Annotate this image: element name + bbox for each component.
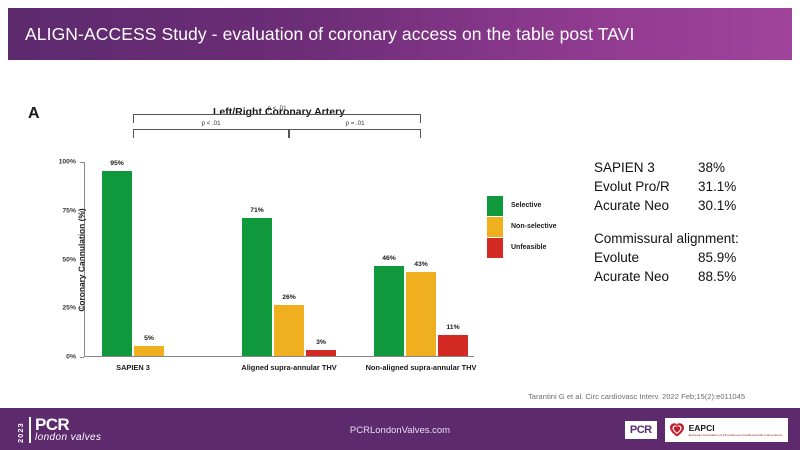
citation-text: Tarantini G et al. Circ cardiovasc Inter… xyxy=(528,392,745,401)
y-tick-label: 25% xyxy=(44,305,76,312)
logo-brand-sub: london valves xyxy=(35,432,101,443)
chart-legend: SelectiveNon-selectiveUnfeasible xyxy=(487,195,582,258)
stats-rows: SAPIEN 338%Evolut Pro/R31.1%Acurate Neo3… xyxy=(594,158,794,215)
bar-value-label: 5% xyxy=(144,335,154,342)
bar-value-label: 11% xyxy=(446,324,459,331)
x-axis-line xyxy=(84,356,474,357)
panel-letter: A xyxy=(28,105,40,123)
y-tick-label: 0% xyxy=(44,354,76,361)
bar-group: 95%5%SAPIEN 3 xyxy=(102,161,202,356)
bar-value-label: 26% xyxy=(282,294,296,301)
bar: 5% xyxy=(134,346,164,356)
figure-panel: A Left/Right Coronary Artery Coronary Ca… xyxy=(24,100,584,390)
significance-label: p = .01 xyxy=(345,120,364,127)
legend-swatch xyxy=(487,196,503,216)
stat-name: Acurate Neo xyxy=(594,267,698,286)
stats-panel: SAPIEN 338%Evolut Pro/R31.1%Acurate Neo3… xyxy=(594,158,794,286)
stat-value: 85.9% xyxy=(698,248,736,267)
legend-item: Non-selective xyxy=(487,216,582,237)
bar-set: 46%43%11% xyxy=(374,161,474,356)
bar-value-label: 3% xyxy=(316,339,326,346)
y-tick-mark xyxy=(80,308,84,309)
bar-value-label: 95% xyxy=(110,160,124,167)
y-tick-mark xyxy=(80,162,84,163)
stat-row: SAPIEN 338% xyxy=(594,158,794,177)
bar: 3% xyxy=(306,350,336,356)
significance-label: p < .01 xyxy=(267,105,286,112)
slide-title-bar: ALIGN-ACCESS Study - evaluation of coron… xyxy=(8,8,792,60)
y-tick-label: 50% xyxy=(44,256,76,263)
stat-row: Acurate Neo30.1% xyxy=(594,196,794,215)
x-tick-label: SAPIEN 3 xyxy=(116,363,150,372)
bar-value-label: 43% xyxy=(414,261,428,268)
legend-label: Unfeasible xyxy=(511,244,546,251)
eapci-name: EAPCI xyxy=(689,424,782,433)
y-tick-mark xyxy=(80,357,84,358)
bar-chart-plot: Coronary Cannulation (%) 0%25%50%75%100%… xyxy=(84,162,474,357)
stat-row: Evolut Pro/R31.1% xyxy=(594,177,794,196)
slide-footer: 2023 PCR london valves PCRLondonValves.c… xyxy=(0,410,800,450)
stat-name: SAPIEN 3 xyxy=(594,158,698,177)
logo-divider xyxy=(29,417,31,443)
stat-value: 30.1% xyxy=(698,196,736,215)
bar-value-label: 71% xyxy=(250,207,264,214)
stat-name: Evolute xyxy=(594,248,698,267)
legend-swatch xyxy=(487,217,503,237)
pcr-logo-badge: PCR xyxy=(625,421,657,439)
stat-value: 88.5% xyxy=(698,267,736,286)
bar: 95% xyxy=(102,171,132,356)
heart-icon xyxy=(669,422,685,438)
eapci-wordmark: EAPCI European Association of Percutaneo… xyxy=(689,424,782,437)
bar: 11% xyxy=(438,335,468,356)
bar: 71% xyxy=(242,218,272,356)
bar-set: 71%26%3% xyxy=(242,161,342,356)
bar-value-label: 46% xyxy=(382,255,396,262)
legend-swatch xyxy=(487,238,503,258)
footer-logo-group: PCR EAPCI European Association of Percut… xyxy=(625,418,788,442)
commissural-heading: Commissural alignment: xyxy=(594,229,794,248)
stat-value: 31.1% xyxy=(698,177,736,196)
bar: 26% xyxy=(274,305,304,356)
bar-set: 95%5% xyxy=(102,161,202,356)
bar-group: 71%26%3%Aligned supra-annular THV xyxy=(242,161,342,356)
significance-bracket: p = .01 xyxy=(289,129,421,138)
legend-label: Selective xyxy=(511,202,541,209)
logo-brand: PCR xyxy=(35,417,101,432)
footer-url: PCRLondonValves.com xyxy=(350,425,450,436)
eapci-tagline: European Association of Percutaneous Car… xyxy=(689,433,782,437)
bar: 43% xyxy=(406,272,436,356)
stat-row: Evolute85.9% xyxy=(594,248,794,267)
stat-value: 38% xyxy=(698,158,725,177)
significance-bracket: p < .01 xyxy=(133,129,289,138)
stat-name: Acurate Neo xyxy=(594,196,698,215)
significance-label: p < .01 xyxy=(201,120,220,127)
y-tick-label: 100% xyxy=(44,159,76,166)
eapci-logo-badge: EAPCI European Association of Percutaneo… xyxy=(665,418,788,442)
slide-canvas: ALIGN-ACCESS Study - evaluation of coron… xyxy=(0,0,800,450)
x-tick-label: Aligned supra-annular THV xyxy=(241,363,336,372)
bar-group: 46%43%11%Non-aligned supra-annular THV xyxy=(374,161,474,356)
pcr-london-valves-logo: 2023 PCR london valves xyxy=(17,417,101,443)
legend-item: Selective xyxy=(487,195,582,216)
stat-name: Evolut Pro/R xyxy=(594,177,698,196)
legend-item: Unfeasible xyxy=(487,237,582,258)
page-title: ALIGN-ACCESS Study - evaluation of coron… xyxy=(8,24,634,45)
significance-bracket: p < .01 xyxy=(133,114,421,123)
logo-wordmark: PCR london valves xyxy=(35,417,101,443)
legend-label: Non-selective xyxy=(511,223,557,230)
y-tick-mark xyxy=(80,211,84,212)
y-tick-mark xyxy=(80,260,84,261)
commissural-rows: Evolute85.9%Acurate Neo88.5% xyxy=(594,248,794,286)
stat-row: Acurate Neo88.5% xyxy=(594,267,794,286)
bar: 46% xyxy=(374,266,404,356)
y-tick-label: 75% xyxy=(44,207,76,214)
x-tick-label: Non-aligned supra-annular THV xyxy=(366,363,477,372)
stats-spacer xyxy=(594,215,794,229)
logo-year: 2023 xyxy=(17,417,25,443)
